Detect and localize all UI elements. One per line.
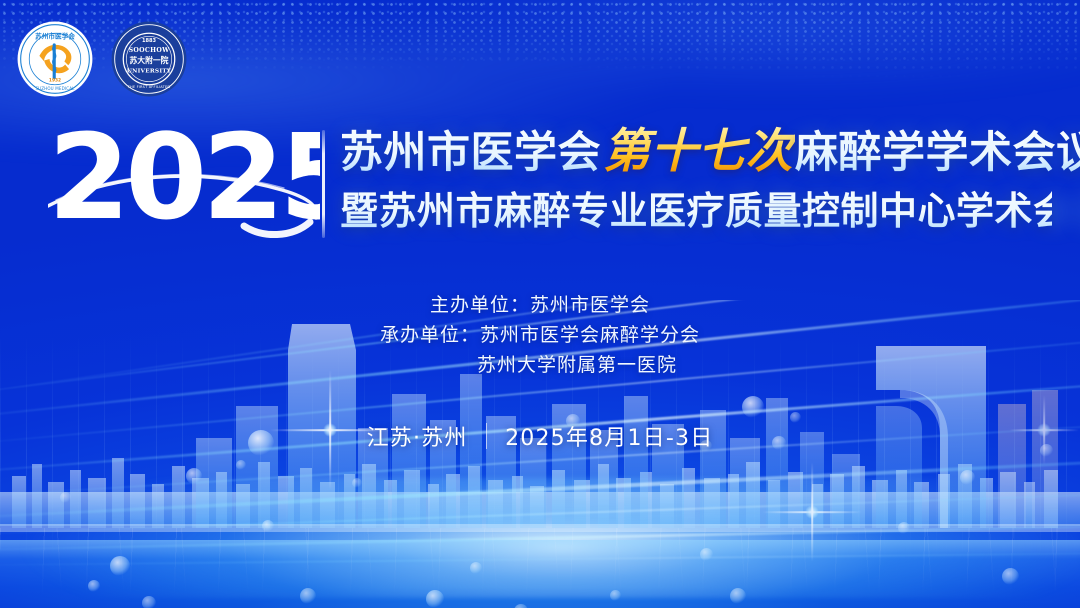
host-label: 主办单位： xyxy=(430,294,530,316)
svg-text:SOOCHOW: SOOCHOW xyxy=(129,47,171,54)
svg-text:SUZHOU MEDICAL: SUZHOU MEDICAL xyxy=(35,86,75,91)
host-row: 主办单位：苏州市医学会 xyxy=(0,290,1080,320)
title-part-white-2: 麻醉学学术会议 xyxy=(795,128,1080,178)
organizer-value-2: 苏州大学附属第一医院 xyxy=(477,354,677,376)
event-date: 2025年8月1日-3日 xyxy=(505,420,713,452)
organizer-value: 苏州市医学会麻醉学分会 xyxy=(480,324,700,346)
conference-banner: 苏州市医学会 1932 SUZHOU MEDICAL 1883 SOOCHOW … xyxy=(0,0,1080,608)
suzhou-medical-association-logo: 苏州市医学会 1932 SUZHOU MEDICAL xyxy=(16,20,94,98)
logo-group: 苏州市医学会 1932 SUZHOU MEDICAL 1883 SOOCHOW … xyxy=(16,20,188,98)
title-part-gold: 第十七次 xyxy=(601,124,795,179)
organizer-label: 承办单位： xyxy=(380,324,480,346)
organizers-block: 主办单位：苏州市医学会 承办单位：苏州市医学会麻醉学分会 苏州大学附属第一医院 xyxy=(0,290,1080,380)
title-part-white-1: 苏州市医学会 xyxy=(340,128,601,178)
svg-text:苏州市医学会: 苏州市医学会 xyxy=(35,32,75,41)
organizer-row: 承办单位：苏州市医学会麻醉学分会 xyxy=(0,320,1080,350)
title-divider xyxy=(322,130,325,238)
host-value: 苏州市医学会 xyxy=(530,294,650,316)
conference-title: 苏州市医学会第十七次麻醉学学术会议 暨苏州市麻醉专业医疗质量控制中心学术会议 xyxy=(340,124,1052,237)
svg-text:苏大附一院: 苏大附一院 xyxy=(130,55,169,65)
year-text: 2025 xyxy=(48,122,320,242)
year-2025-logo: 2025 xyxy=(48,122,320,242)
svg-text:THE FIRST AFFILIATED: THE FIRST AFFILIATED xyxy=(127,85,171,89)
event-location: 江苏·苏州 xyxy=(367,420,468,452)
svg-text:1883: 1883 xyxy=(142,38,157,44)
title-line-2: 暨苏州市麻醉专业医疗质量控制中心学术会议 xyxy=(340,185,1052,237)
event-meta: 江苏·苏州 2025年8月1日-3日 xyxy=(0,420,1080,452)
svg-text:UNIVERSITY: UNIVERSITY xyxy=(127,68,172,74)
title-line-1: 苏州市医学会第十七次麻醉学学术会议 xyxy=(340,124,1052,181)
soochow-university-hospital-logo: 1883 SOOCHOW 苏大附一院 UNIVERSITY THE FIRST … xyxy=(110,20,188,98)
svg-text:1932: 1932 xyxy=(49,78,61,84)
meta-separator xyxy=(486,423,488,449)
star-flare-mid xyxy=(762,462,862,562)
organizer-row-2: 苏州大学附属第一医院 xyxy=(0,350,1080,380)
